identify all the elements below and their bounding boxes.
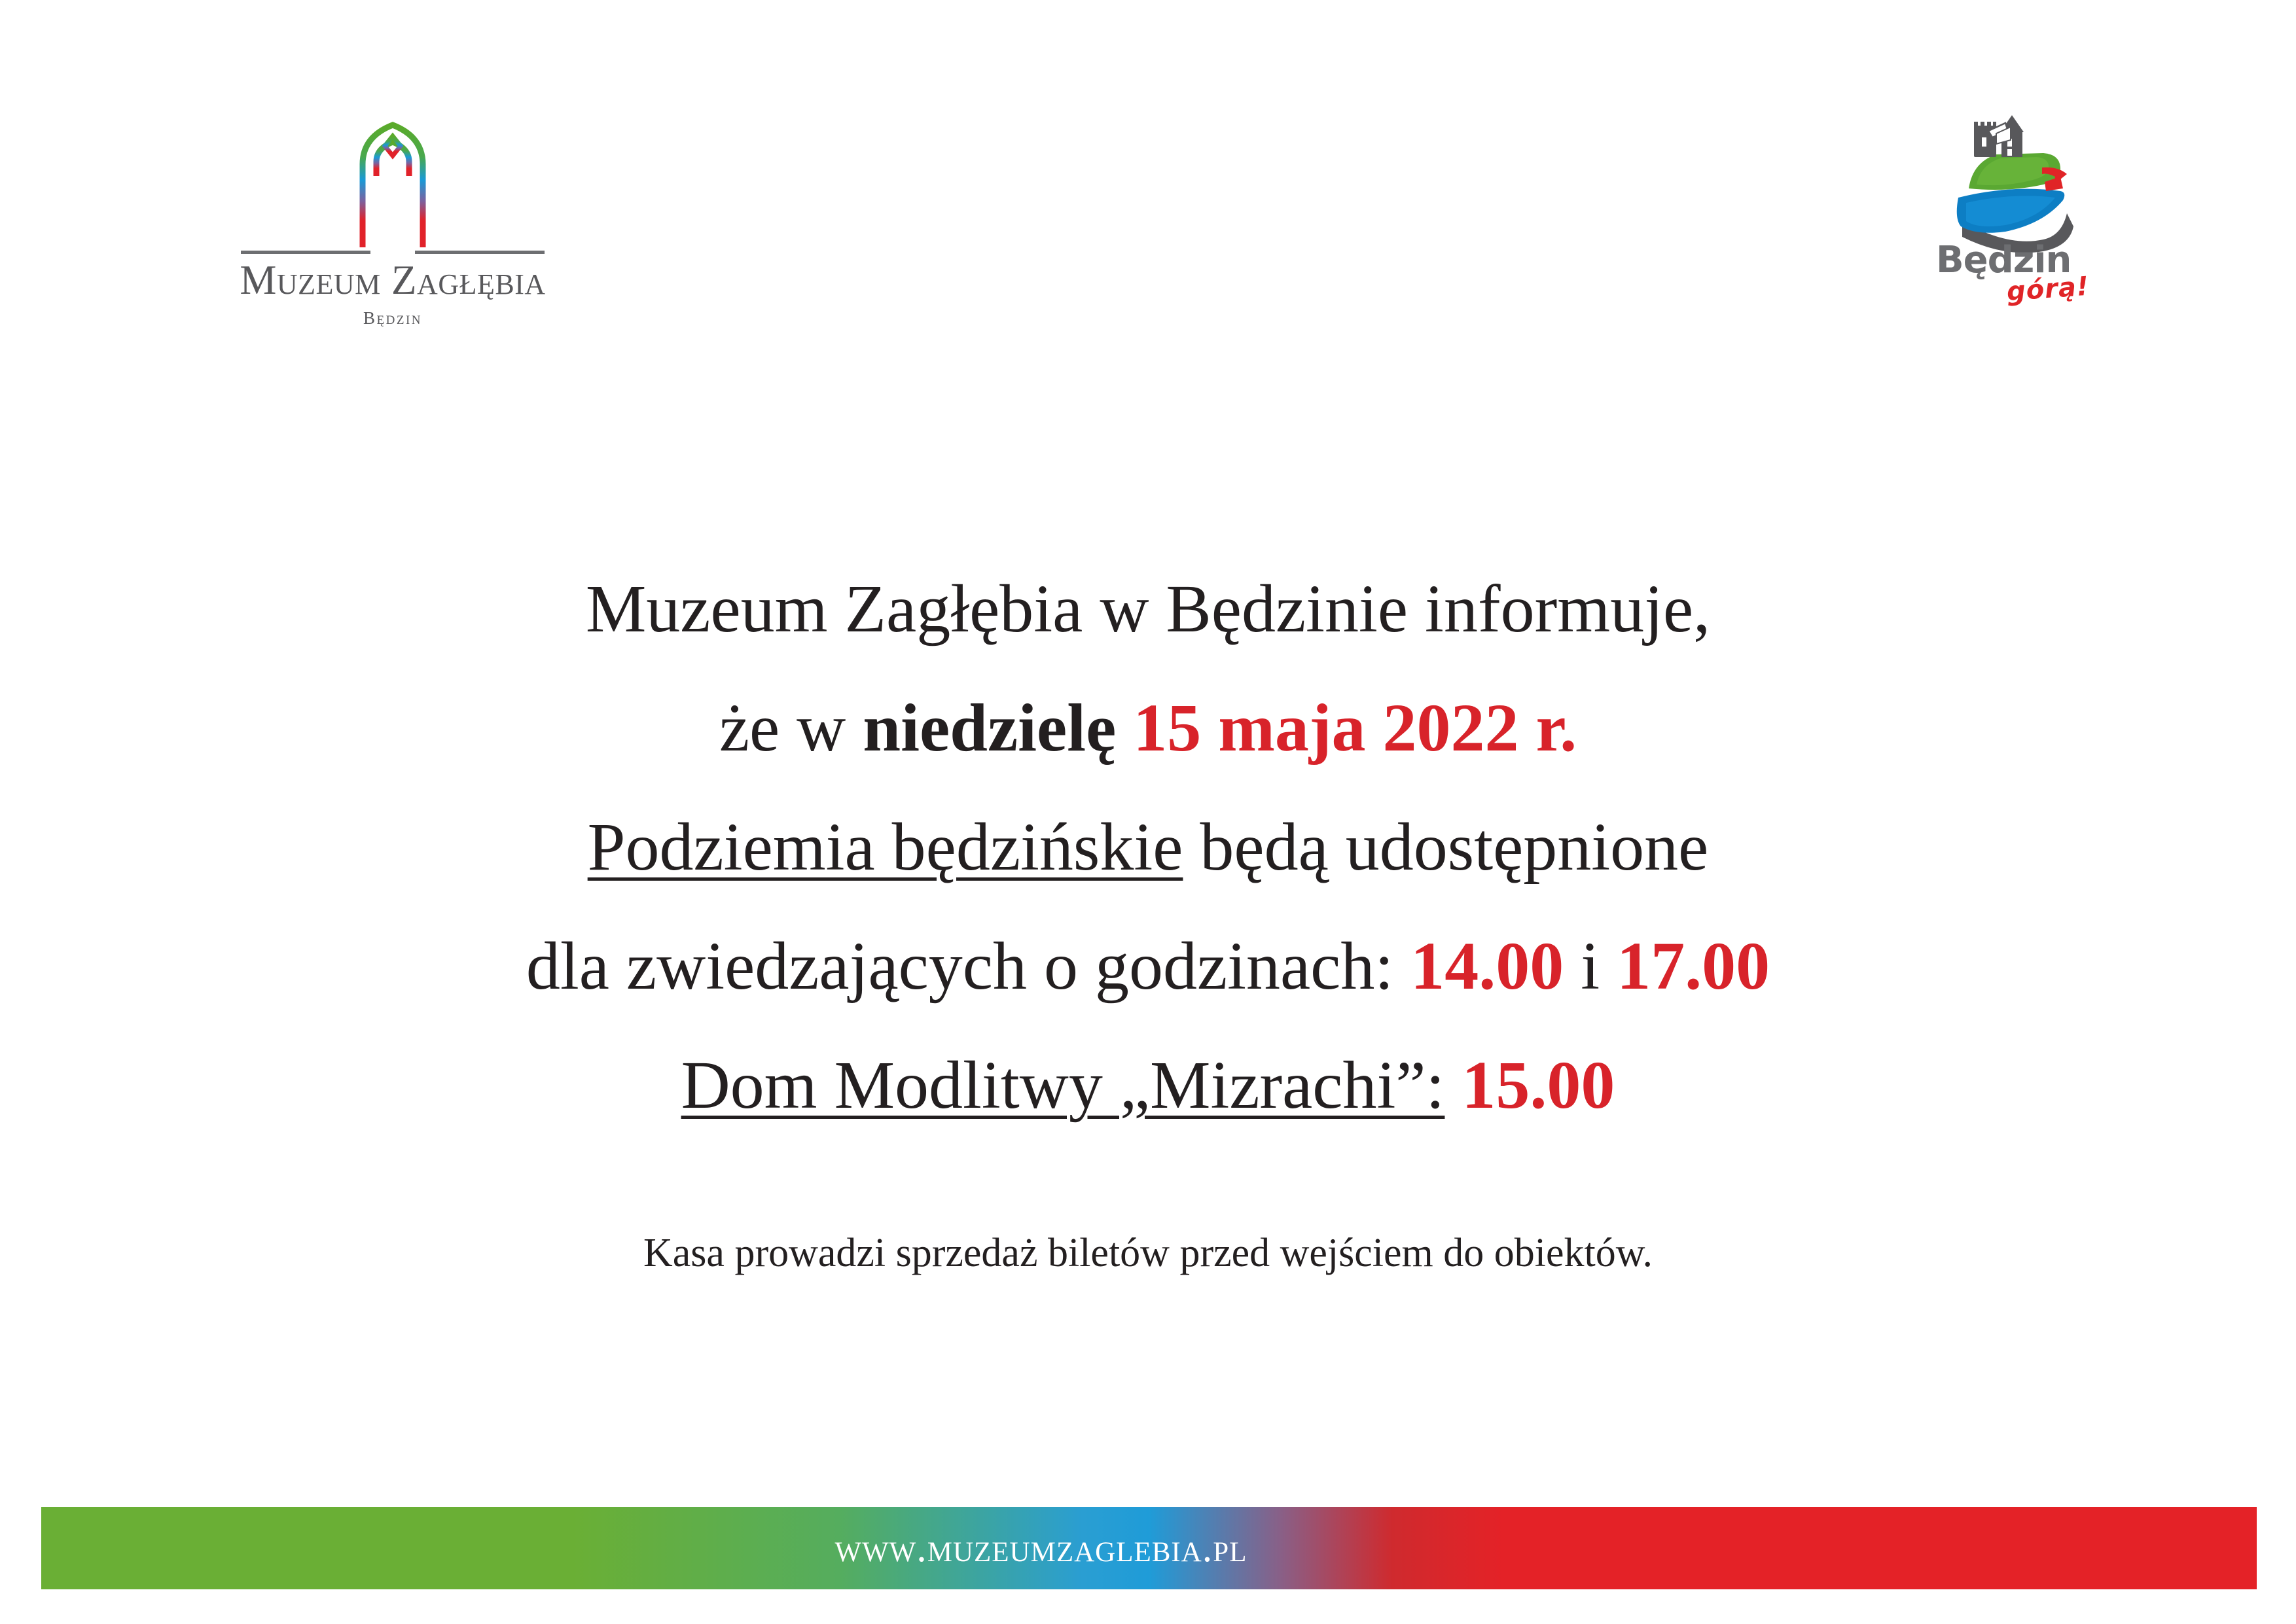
poster-header: Muzeum Zagłębia Będzin: [0, 0, 2296, 366]
museum-city-label: Będzin: [223, 309, 563, 327]
bedzin-city-logo: Będzin górą!: [1936, 111, 2132, 327]
rule-right: [415, 251, 545, 254]
website-url[interactable]: www.muzeumzaglebia.pl: [41, 1507, 2257, 1589]
bedzin-logo-tagline: górą!: [2006, 274, 2090, 306]
rule-left: [241, 251, 370, 254]
announcement-line-1: Muzeum Zagłębia w Będzinie informuje,: [0, 550, 2296, 669]
announcement-line-4: dla zwiedzających o godzinach: 14.00 i 1…: [0, 907, 2296, 1026]
line3-venue: Podziemia będzińskie: [588, 809, 1183, 885]
footer-gradient-bar: www.muzeumzaglebia.pl: [41, 1507, 2257, 1589]
line2-space: [1116, 690, 1133, 766]
line5-time: 15.00: [1462, 1048, 1615, 1123]
gothic-window-icon: [357, 121, 429, 249]
line2-prefix: że w: [719, 690, 863, 766]
museum-logo-rules: [223, 249, 563, 255]
announcement-body: Muzeum Zagłębia w Będzinie informuje, że…: [0, 550, 2296, 1282]
line5-space: [1444, 1048, 1462, 1123]
announcement-note: Kasa prowadzi sprzedaż biletów przed wej…: [0, 1224, 2296, 1282]
note-text: Kasa prowadzi sprzedaż biletów przed wej…: [643, 1231, 1653, 1275]
line4-time-1: 14.00: [1410, 928, 1564, 1004]
line2-date: 15 maja 2022 r.: [1133, 690, 1577, 766]
line3-rest: będą udostępnione: [1183, 809, 1708, 885]
announcement-line-5: Dom Modlitwy „Mizrachi”: 15.00: [0, 1026, 2296, 1145]
line4-time-2: 17.00: [1617, 928, 1770, 1004]
announcement-line-3: Podziemia będzińskie będą udostępnione: [0, 788, 2296, 907]
bedzin-castle-hill-icon: [1945, 111, 2086, 256]
line4-prefix: dla zwiedzających o godzinach:: [526, 928, 1410, 1004]
museum-zaglebia-logo: Muzeum Zagłębia Będzin: [223, 121, 563, 324]
museum-wordmark: Muzeum Zagłębia: [223, 260, 563, 301]
line2-weekday: niedzielę: [863, 690, 1116, 766]
line1-text: Muzeum Zagłębia w Będzinie informuje,: [586, 571, 1710, 646]
poster-page: { "header": { "museum_logo": { "mark_ico…: [0, 0, 2296, 1624]
line5-venue: Dom Modlitwy „Mizrachi”:: [681, 1048, 1445, 1123]
announcement-line-2: że w niedzielę 15 maja 2022 r.: [0, 669, 2296, 788]
line4-conjunction: i: [1564, 928, 1617, 1004]
